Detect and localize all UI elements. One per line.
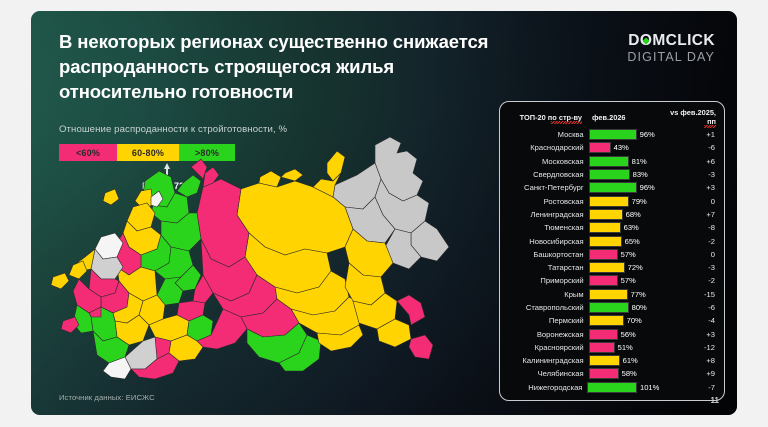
page-number: 11 — [711, 396, 719, 405]
value-bar — [589, 209, 623, 220]
delta-value: -2 — [659, 276, 724, 285]
value-label: 61% — [623, 356, 638, 365]
value-bar — [589, 142, 611, 153]
value-bar — [589, 315, 624, 326]
value-label: 77% — [631, 290, 646, 299]
logo-o-icon: O — [640, 33, 652, 49]
table-header-region: ТОП-20 по стр-ву — [500, 113, 586, 122]
bar-cell: 83% — [589, 169, 659, 180]
value-label: 83% — [633, 170, 648, 179]
bar-cell: 79% — [589, 196, 659, 207]
table-row: Новосибирская65%-2 — [500, 234, 724, 247]
region-name: Краснодарский — [500, 143, 589, 152]
region-name: Челябинская — [500, 369, 589, 378]
table-row: Воронежская56%+3 — [500, 327, 724, 340]
value-bar — [589, 368, 619, 379]
table-header-row: ТОП-20 по стр-ву фев.2026 vs фев.2025, п… — [500, 102, 724, 127]
region-name: Москва — [500, 130, 589, 139]
delta-value: -12 — [659, 343, 724, 352]
table-row: Свердловская83%-3 — [500, 168, 724, 181]
value-label: 81% — [632, 157, 647, 166]
value-bar — [589, 182, 637, 193]
screenshot-root: В некоторых регионах существенно снижает… — [0, 0, 768, 427]
spellcheck-underline-icon-2 — [704, 125, 716, 128]
value-label: 43% — [614, 143, 629, 152]
value-label: 70% — [627, 316, 642, 325]
table-header-value: фев.2026 — [586, 113, 661, 122]
russia-choropleth-map — [45, 129, 500, 387]
logo-text-after: MCLICK — [652, 32, 715, 49]
region-name: Красноярский — [500, 343, 589, 352]
table-row: Калининградская61%+8 — [500, 354, 724, 367]
bar-cell: 81% — [589, 156, 659, 167]
table-row: Приморский57%-2 — [500, 274, 724, 287]
delta-value: -15 — [659, 290, 724, 299]
table-header-delta-text: vs фев.2025, пп — [670, 108, 716, 126]
bar-cell: 101% — [587, 382, 659, 393]
delta-value: -2 — [659, 237, 724, 246]
value-bar — [589, 196, 629, 207]
bar-cell: 51% — [589, 342, 659, 353]
value-bar — [589, 289, 628, 300]
region-name: Воронежская — [500, 330, 589, 339]
delta-value: +9 — [659, 369, 724, 378]
value-bar — [589, 129, 637, 140]
bar-cell: 57% — [589, 249, 659, 260]
table-row: Челябинская58%+9 — [500, 367, 724, 380]
value-label: 63% — [624, 223, 639, 232]
bar-cell: 56% — [589, 329, 659, 340]
delta-value: -4 — [659, 316, 724, 325]
delta-value: -6 — [659, 303, 724, 312]
bar-cell: 65% — [589, 236, 659, 247]
region-name: Ленинградская — [500, 210, 589, 219]
bar-cell: 70% — [589, 315, 659, 326]
delta-value: 0 — [659, 250, 724, 259]
region-name: Приморский — [500, 276, 589, 285]
value-label: 79% — [632, 197, 647, 206]
value-bar — [589, 342, 615, 353]
top20-table-panel: ТОП-20 по стр-ву фев.2026 vs фев.2025, п… — [499, 101, 725, 401]
bar-cell: 80% — [589, 302, 659, 313]
bar-cell: 58% — [589, 368, 659, 379]
value-label: 51% — [618, 343, 633, 352]
delta-value: +6 — [659, 157, 724, 166]
logo-wordmark: DOMCLICK — [627, 33, 715, 49]
region-name: Пермский — [500, 316, 589, 325]
bar-cell: 96% — [589, 182, 659, 193]
map-svg — [45, 129, 500, 387]
region-name: Крым — [500, 290, 589, 299]
table-body: Москва96%+1Краснодарский43%-6Московская8… — [500, 127, 724, 394]
value-label: 68% — [626, 210, 641, 219]
bar-cell: 63% — [589, 222, 659, 233]
region-name: Башкортостан — [500, 250, 589, 259]
value-bar — [587, 382, 637, 393]
table-row: Башкортостан57%0 — [500, 248, 724, 261]
value-bar — [589, 355, 620, 366]
table-row: Пермский70%-4 — [500, 314, 724, 327]
value-label: 56% — [621, 330, 636, 339]
delta-value: +7 — [659, 210, 724, 219]
value-label: 96% — [640, 130, 655, 139]
value-bar — [589, 329, 618, 340]
delta-value: 0 — [659, 197, 724, 206]
delta-value: +1 — [659, 130, 724, 139]
bar-cell: 96% — [589, 129, 659, 140]
value-bar — [589, 236, 622, 247]
logo-tagline: DIGITAL DAY — [627, 51, 715, 64]
region-name: Татарстан — [500, 263, 589, 272]
region-name: Калининградская — [500, 356, 589, 365]
table-row: Ставропольский80%-6 — [500, 301, 724, 314]
table-row: Санкт-Петербург96%+3 — [500, 181, 724, 194]
table-row: Тюменская63%-8 — [500, 221, 724, 234]
delta-value: +3 — [659, 330, 724, 339]
value-bar — [589, 302, 629, 313]
presentation-slide: В некоторых регионах существенно снижает… — [31, 11, 737, 415]
logo-text-before: D — [628, 32, 640, 49]
value-label: 80% — [632, 303, 647, 312]
value-label: 101% — [640, 383, 659, 392]
value-bar — [589, 262, 625, 273]
table-row: Московская81%+6 — [500, 155, 724, 168]
delta-value: -7 — [659, 383, 724, 392]
bar-cell: 68% — [589, 209, 659, 220]
value-label: 57% — [621, 250, 636, 259]
slide-title: В некоторых регионах существенно снижает… — [59, 29, 489, 104]
table-row: Красноярский51%-12 — [500, 341, 724, 354]
table-row: Татарстан72%-3 — [500, 261, 724, 274]
table-row: Краснодарский43%-6 — [500, 141, 724, 154]
table-row: Москва96%+1 — [500, 128, 724, 141]
bar-cell: 43% — [589, 142, 659, 153]
table-row: Нижегородская101%-7 — [500, 381, 724, 394]
region-name: Свердловская — [500, 170, 589, 179]
bar-cell: 77% — [589, 289, 659, 300]
delta-value: -3 — [659, 263, 724, 272]
region-name: Новосибирская — [500, 237, 589, 246]
value-bar — [589, 169, 630, 180]
region-name: Тюменская — [500, 223, 589, 232]
delta-value: +3 — [659, 183, 724, 192]
value-bar — [589, 275, 618, 286]
bar-cell: 61% — [589, 355, 659, 366]
region-name: Ставропольский — [500, 303, 589, 312]
value-bar — [589, 222, 621, 233]
value-bar — [589, 156, 629, 167]
value-label: 65% — [625, 237, 640, 246]
region-name: Московская — [500, 157, 589, 166]
bar-cell: 72% — [589, 262, 659, 273]
region-name: Ростовская — [500, 197, 589, 206]
value-bar — [589, 249, 618, 260]
map-regions — [51, 137, 449, 379]
region-name: Нижегородская — [500, 383, 587, 392]
delta-value: -8 — [659, 223, 724, 232]
value-label: 96% — [640, 183, 655, 192]
bar-cell: 57% — [589, 275, 659, 286]
value-label: 57% — [621, 276, 636, 285]
value-label: 72% — [628, 263, 643, 272]
data-source-label: Источник данных: ЕИСЖС — [59, 393, 155, 402]
delta-value: -3 — [659, 170, 724, 179]
value-label: 58% — [622, 369, 637, 378]
table-row: Ленинградская68%+7 — [500, 208, 724, 221]
domclick-logo: DOMCLICK DIGITAL DAY — [627, 33, 715, 63]
region-name: Санкт-Петербург — [500, 183, 589, 192]
delta-value: -6 — [659, 143, 724, 152]
table-row: Крым77%-15 — [500, 288, 724, 301]
spellcheck-underline-icon — [551, 121, 582, 124]
delta-value: +8 — [659, 356, 724, 365]
table-header-delta: vs фев.2025, пп — [661, 108, 724, 126]
table-row: Ростовская79%0 — [500, 194, 724, 207]
